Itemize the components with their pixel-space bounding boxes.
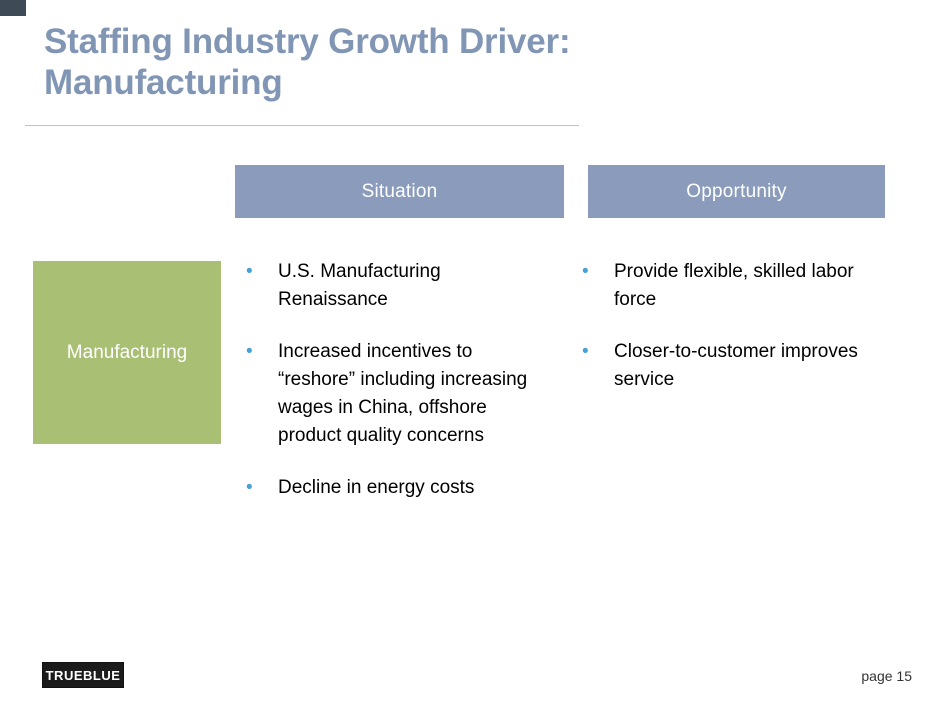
list-item-text: Closer-to-customer improves service — [614, 341, 858, 390]
trueblue-logo: TRUEBLUE — [42, 662, 124, 688]
list-item: • Provide flexible, skilled labor force — [576, 258, 876, 314]
bullet-dot-icon: • — [246, 338, 253, 366]
list-item-text: Decline in energy costs — [278, 477, 474, 498]
page-title: Staffing Industry Growth Driver: Manufac… — [44, 22, 744, 104]
corner-accent-mark — [0, 0, 26, 16]
category-block-label: Manufacturing — [67, 342, 187, 364]
list-item-text: Provide flexible, skilled labor force — [614, 261, 854, 310]
category-block-manufacturing: Manufacturing — [33, 261, 221, 444]
column-header-situation-label: Situation — [362, 181, 438, 203]
bullet-dot-icon: • — [246, 474, 253, 502]
trueblue-logo-text: TRUEBLUE — [46, 668, 121, 683]
slide: Staffing Industry Growth Driver: Manufac… — [0, 0, 940, 705]
column-header-situation: Situation — [235, 165, 564, 218]
list-item: • Decline in energy costs — [240, 474, 540, 502]
column-header-opportunity: Opportunity — [588, 165, 885, 218]
list-item-text: Increased incentives to “reshore” includ… — [278, 341, 527, 446]
list-item: • U.S. Manufacturing Renaissance — [240, 258, 540, 314]
bullet-list-opportunity: • Provide flexible, skilled labor force … — [576, 258, 876, 418]
bullet-dot-icon: • — [246, 258, 253, 286]
bullet-dot-icon: • — [582, 338, 589, 366]
title-divider — [25, 125, 579, 126]
bullet-list-situation: • U.S. Manufacturing Renaissance • Incre… — [240, 258, 540, 525]
list-item: • Closer-to-customer improves service — [576, 338, 876, 394]
bullet-dot-icon: • — [582, 258, 589, 286]
list-item-text: U.S. Manufacturing Renaissance — [278, 261, 441, 310]
column-header-opportunity-label: Opportunity — [686, 181, 786, 203]
page-number: page 15 — [861, 668, 912, 684]
list-item: • Increased incentives to “reshore” incl… — [240, 338, 540, 450]
